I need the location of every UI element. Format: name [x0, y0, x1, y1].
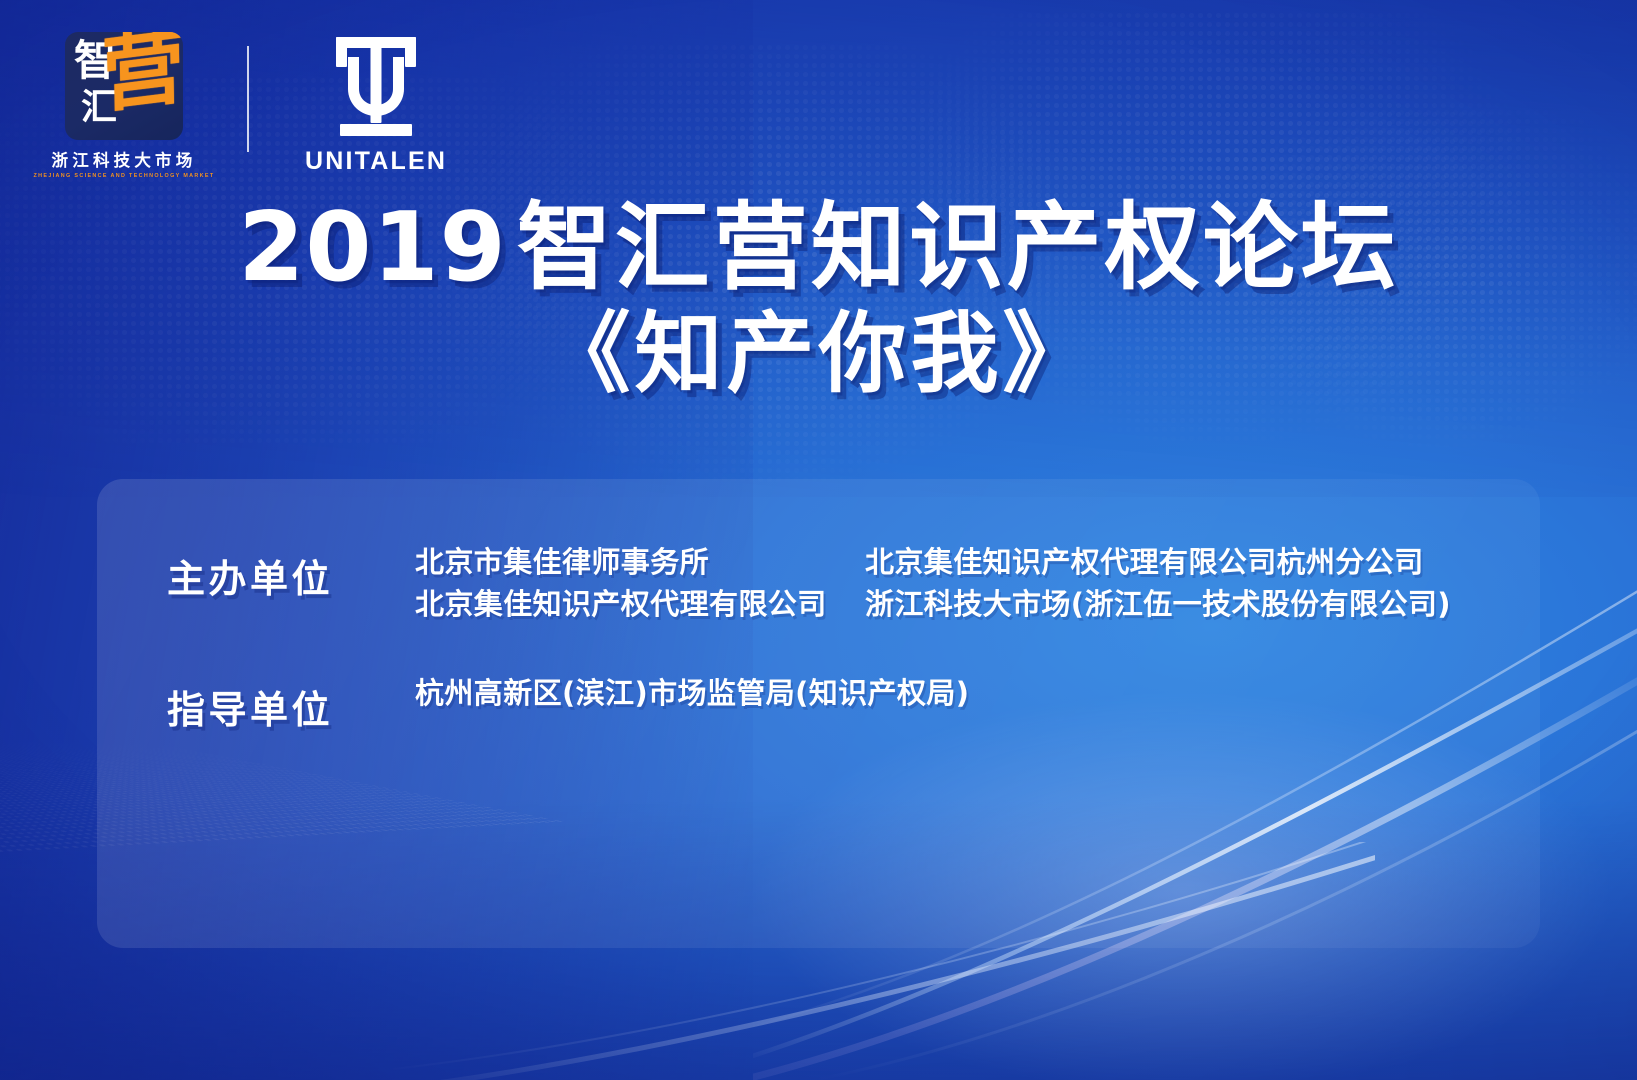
guiding-unit-item: 杭州高新区(滨江)市场监管局(知识产权局) — [415, 679, 969, 708]
guiding-units-row: 指导单位 杭州高新区(滨江)市场监管局(知识产权局) — [167, 679, 969, 734]
guiding-units-label: 指导单位 — [167, 679, 415, 734]
host-units-row: 主办单位 北京市集佳律师事务所 北京集佳知识产权代理有限公司 北京集佳知识产权代… — [167, 548, 1451, 619]
guiding-units-columns: 杭州高新区(滨江)市场监管局(知识产权局) — [415, 679, 969, 708]
host-units-label: 主办单位 — [167, 548, 415, 603]
logo-glyph-ying: 营 — [101, 32, 183, 117]
host-unit-item: 北京集佳知识产权代理有限公司 — [415, 590, 865, 619]
unitalen-monogram-icon — [328, 35, 424, 139]
event-subtitle: 《知产你我》 — [0, 305, 1637, 404]
unitalen-logo[interactable]: UNITALEN — [305, 35, 447, 176]
event-title: 2019智汇营知识产权论坛 — [0, 196, 1637, 301]
host-unit-item: 北京市集佳律师事务所 — [415, 548, 865, 577]
host-units-column-right: 北京集佳知识产权代理有限公司杭州分公司 浙江科技大市场(浙江伍一技术股份有限公司… — [865, 548, 1451, 619]
zhihuiying-logo-mark: 智 汇 营 — [65, 32, 183, 140]
event-year: 2019 — [238, 193, 506, 303]
unitalen-wordmark: UNITALEN — [305, 147, 447, 176]
host-units-column-left: 北京市集佳律师事务所 北京集佳知识产权代理有限公司 — [415, 548, 865, 619]
zhihuiying-logo[interactable]: 智 汇 营 浙江科技大市场 ZHEJIANG SCIENCE AND TECHN… — [59, 32, 189, 179]
zhihuiying-name-cn: 浙江科技大市场 — [52, 147, 197, 171]
host-unit-item: 浙江科技大市场(浙江伍一技术股份有限公司) — [865, 590, 1451, 619]
zhihuiying-name-en: ZHEJIANG SCIENCE AND TECHNOLOGY MARKET — [34, 173, 215, 179]
event-title-text: 智汇营知识产权论坛 — [517, 193, 1399, 303]
host-unit-item: 北京集佳知识产权代理有限公司杭州分公司 — [865, 548, 1451, 577]
guiding-units-column-left: 杭州高新区(滨江)市场监管局(知识产权局) — [415, 679, 969, 708]
poster-canvas: 智 汇 营 浙江科技大市场 ZHEJIANG SCIENCE AND TECHN… — [0, 0, 1637, 1080]
logo-bar: 智 汇 营 浙江科技大市场 ZHEJIANG SCIENCE AND TECHN… — [59, 32, 447, 179]
host-units-columns: 北京市集佳律师事务所 北京集佳知识产权代理有限公司 北京集佳知识产权代理有限公司… — [415, 548, 1451, 619]
sponsor-info-panel: 主办单位 北京市集佳律师事务所 北京集佳知识产权代理有限公司 北京集佳知识产权代… — [97, 479, 1540, 948]
title-block: 2019智汇营知识产权论坛 《知产你我》 — [0, 196, 1637, 403]
vertical-divider-icon — [247, 46, 249, 152]
